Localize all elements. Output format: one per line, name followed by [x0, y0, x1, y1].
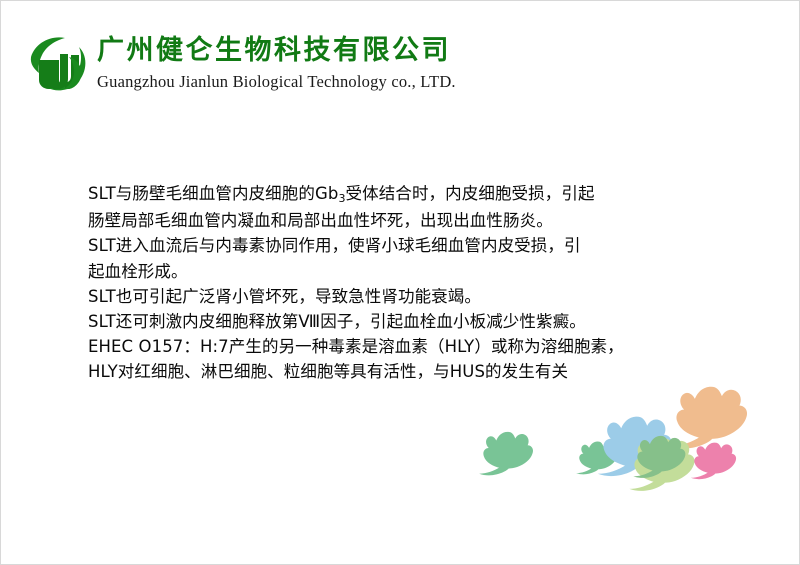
- slide-body-text: SLT与肠壁毛细血管内皮细胞的Gb3受体结合时，内皮细胞受损，引起 肠壁局部毛细…: [88, 181, 718, 385]
- body-line-1-suffix: 受体结合时，内皮细胞受损，引起: [346, 184, 595, 203]
- ginkgo-leaf-green-left: [479, 432, 533, 475]
- company-name-english: Guangzhou Jianlun Biological Technology …: [97, 72, 456, 92]
- body-line-3: SLT进入血流后与内毒素协同作用，使肾小球毛细血管内皮受损，引: [88, 233, 718, 258]
- jl-monogram-leaf-logo-icon: [29, 33, 91, 95]
- body-line-6: SLT还可刺激内皮细胞释放第Ⅷ因子，引起血栓血小板减少性紫癜。: [88, 309, 718, 334]
- body-line-4: 起血栓形成。: [88, 259, 718, 284]
- gb3-subscript: 3: [338, 192, 345, 205]
- ginkgo-leaf-green-mid: [633, 436, 685, 478]
- body-line-1-prefix: SLT与肠壁毛细血管内皮细胞的Gb: [88, 184, 338, 203]
- ginkgo-leaf-pink: [691, 443, 736, 480]
- body-line-8: HLY对红细胞、淋巴细胞、粒细胞等具有活性，与HUS的发生有关: [88, 359, 718, 384]
- ginkgo-leaf-cluster-decoration: [451, 386, 751, 506]
- ginkgo-leaf-lightgreen: [629, 438, 694, 491]
- ginkgo-leaf-blue: [598, 417, 672, 476]
- body-line-1: SLT与肠壁毛细血管内皮细胞的Gb3受体结合时，内皮细胞受损，引起: [88, 181, 718, 208]
- company-name-block: 广州健仑生物科技有限公司 Guangzhou Jianlun Biologica…: [97, 31, 456, 92]
- slide-canvas: 广州健仑生物科技有限公司 Guangzhou Jianlun Biologica…: [0, 0, 800, 565]
- company-name-chinese: 广州健仑生物科技有限公司: [97, 35, 456, 67]
- ginkgo-leaf-green-small: [576, 441, 617, 474]
- body-line-7: EHEC O157：H:7产生的另一种毒素是溶血素（HLY）或称为溶细胞素，: [88, 334, 718, 359]
- body-line-5: SLT也可引起广泛肾小管坏死，导致急性肾功能衰竭。: [88, 284, 718, 309]
- company-header: 广州健仑生物科技有限公司 Guangzhou Jianlun Biologica…: [29, 31, 456, 95]
- body-line-2: 肠壁局部毛细血管内凝血和局部出血性坏死，出现出血性肠炎。: [88, 208, 718, 233]
- ginkgo-leaf-peach: [671, 387, 747, 449]
